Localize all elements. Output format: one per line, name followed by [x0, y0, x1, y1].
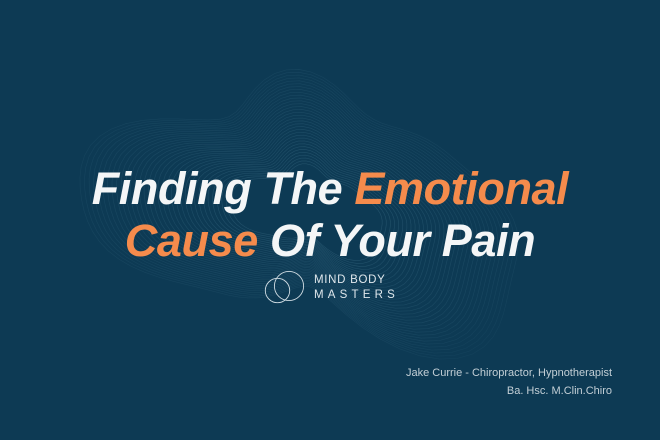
credit-line-degrees: Ba. Hsc. M.Clin.Chiro	[406, 383, 612, 401]
slide-title: Finding The Emotional Cause Of Your Pain	[0, 163, 660, 267]
two-overlapping-circles-icon	[261, 268, 307, 308]
title-line-2-accent: Cause	[125, 215, 258, 266]
title-line-1-accent: Emotional	[354, 163, 568, 214]
presenter-credits: Jake Currie - Chiropractor, Hypnotherapi…	[406, 365, 612, 401]
credit-line-name: Jake Currie - Chiropractor, Hypnotherapi…	[406, 365, 612, 383]
brand-logo: MIND BODY MASTERS	[0, 268, 660, 308]
logo-line-mind-body: MIND BODY	[314, 275, 399, 287]
logo-wordmark: MIND BODY MASTERS	[314, 275, 399, 301]
logo-line-masters: MASTERS	[314, 290, 399, 302]
title-line-1: Finding The Emotional	[0, 163, 660, 215]
title-line-2: Cause Of Your Pain	[0, 215, 660, 267]
title-line-1-plain: Finding The	[92, 163, 355, 214]
presentation-slide: Finding The Emotional Cause Of Your Pain…	[0, 0, 660, 440]
title-line-2-plain: Of Your Pain	[258, 215, 535, 266]
